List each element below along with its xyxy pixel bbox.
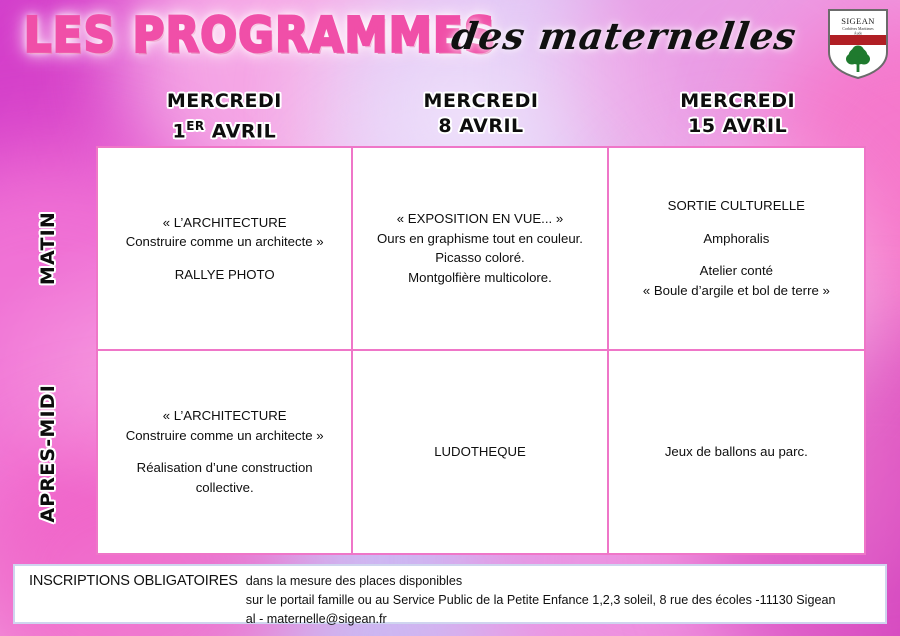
crest-subtitle-1: Corbières Maritimes — [842, 27, 874, 31]
matin2-line1: « EXPOSITION EN VUE... » — [377, 209, 583, 229]
cell-matin-mercredi-1er-avril: « L’ARCHITECTURE Construire comme un arc… — [98, 148, 353, 351]
cell-content: « L’ARCHITECTURE Construire comme un arc… — [126, 406, 324, 497]
footer-detail-lines: dans la mesure des places disponibles su… — [246, 572, 836, 629]
crest-red-band — [830, 35, 886, 45]
col3-month: AVRIL — [723, 115, 787, 137]
spacer — [643, 248, 830, 261]
aprem2-line1: LUDOTHEQUE — [434, 442, 526, 462]
column-header-2: MERCREDI 8 AVRIL — [353, 86, 610, 144]
cell-apres-midi-mercredi-1er-avril: « L’ARCHITECTURE Construire comme un arc… — [98, 351, 353, 554]
matin2-line3: Picasso coloré. — [377, 248, 583, 268]
aprem1-line1: « L’ARCHITECTURE — [126, 406, 324, 426]
footer-line-1: dans la mesure des places disponibles — [246, 572, 836, 591]
cell-content: « EXPOSITION EN VUE... » Ours en graphis… — [377, 209, 583, 287]
row-label-matin: MATIN — [0, 146, 96, 351]
cell-matin-mercredi-8-avril: « EXPOSITION EN VUE... » Ours en graphis… — [353, 148, 608, 351]
col1-weekday: MERCREDI — [167, 90, 282, 112]
cell-apres-midi-mercredi-15-avril: Jeux de ballons au parc. — [609, 351, 864, 554]
footer-line-2: sur le portail famille ou au Service Pub… — [246, 591, 836, 610]
cell-content: Jeux de ballons au parc. — [665, 442, 808, 462]
col3-date: 15 AVRIL — [609, 114, 866, 139]
crest-name: SIGEAN — [841, 16, 875, 26]
page-title: LES PROGRAMMES — [24, 8, 497, 64]
spacer — [643, 216, 830, 229]
matin3-line1: SORTIE CULTURELLE — [643, 196, 830, 216]
matin3-line2: Amphoralis — [643, 229, 830, 249]
poster-root: LES PROGRAMMES des maternelles SIGEAN Co… — [0, 0, 900, 636]
sigean-crest-logo: SIGEAN Corbières Maritimes Aude — [827, 8, 889, 80]
footer-strong-label: INSCRIPTIONS OBLIGATOIRES — [29, 573, 238, 589]
col3-weekday: MERCREDI — [680, 90, 795, 112]
col1-month: AVRIL — [212, 120, 276, 142]
matin3-line4: « Boule d’argile et bol de terre » — [643, 281, 830, 301]
crest-subtitle-2: Aude — [854, 32, 863, 36]
col2-month: AVRIL — [459, 115, 523, 137]
footer-row: INSCRIPTIONS OBLIGATOIRES dans la mesure… — [29, 572, 885, 629]
cell-apres-midi-mercredi-8-avril: LUDOTHEQUE — [353, 351, 608, 554]
aprem1-line3: Réalisation d’une construction — [126, 458, 324, 478]
matin3-line3: Atelier conté — [643, 261, 830, 281]
column-header-1: MERCREDI 1ER AVRIL — [96, 86, 353, 144]
cell-matin-mercredi-15-avril: SORTIE CULTURELLE Amphoralis Atelier con… — [609, 148, 864, 351]
col2-weekday: MERCREDI — [424, 90, 539, 112]
poster-header: LES PROGRAMMES des maternelles SIGEAN Co… — [0, 0, 900, 86]
row-label-matin-text: MATIN — [37, 211, 59, 285]
col2-date: 8 AVRIL — [353, 114, 610, 139]
aprem1-line4: collective. — [126, 478, 324, 498]
col1-day: 1 — [172, 120, 186, 142]
col1-ordinal: ER — [186, 119, 204, 133]
matin1-line3: RALLYE PHOTO — [126, 265, 324, 285]
matin2-line4: Montgolfière multicolore. — [377, 268, 583, 288]
matin1-line2: Construire comme un architecte » — [126, 232, 324, 252]
col3-day: 15 — [688, 115, 715, 137]
column-header-3: MERCREDI 15 AVRIL — [609, 86, 866, 144]
page-subtitle: des maternelles — [449, 14, 799, 58]
spacer — [126, 252, 324, 265]
program-table: « L’ARCHITECTURE Construire comme un arc… — [96, 146, 866, 555]
matin1-line1: « L’ARCHITECTURE — [126, 213, 324, 233]
registration-notice: INSCRIPTIONS OBLIGATOIRES dans la mesure… — [13, 564, 887, 624]
col2-day: 8 — [438, 115, 452, 137]
col1-date: 1ER AVRIL — [96, 114, 353, 144]
aprem3-line1: Jeux de ballons au parc. — [665, 442, 808, 462]
cell-content: « L’ARCHITECTURE Construire comme un arc… — [126, 213, 324, 285]
row-label-apres-midi: APRES-MIDI — [0, 351, 96, 555]
spacer — [126, 445, 324, 458]
cell-content: LUDOTHEQUE — [434, 442, 526, 462]
column-headers: MERCREDI 1ER AVRIL MERCREDI 8 AVRIL MERC… — [96, 86, 866, 144]
aprem1-line2: Construire comme un architecte » — [126, 426, 324, 446]
footer-line-3: al - maternelle@sigean.fr — [246, 610, 836, 629]
matin2-line2: Ours en graphisme tout en couleur. — [377, 229, 583, 249]
row-label-apres-midi-text: APRES-MIDI — [37, 384, 59, 523]
cell-content: SORTIE CULTURELLE Amphoralis Atelier con… — [643, 196, 830, 300]
